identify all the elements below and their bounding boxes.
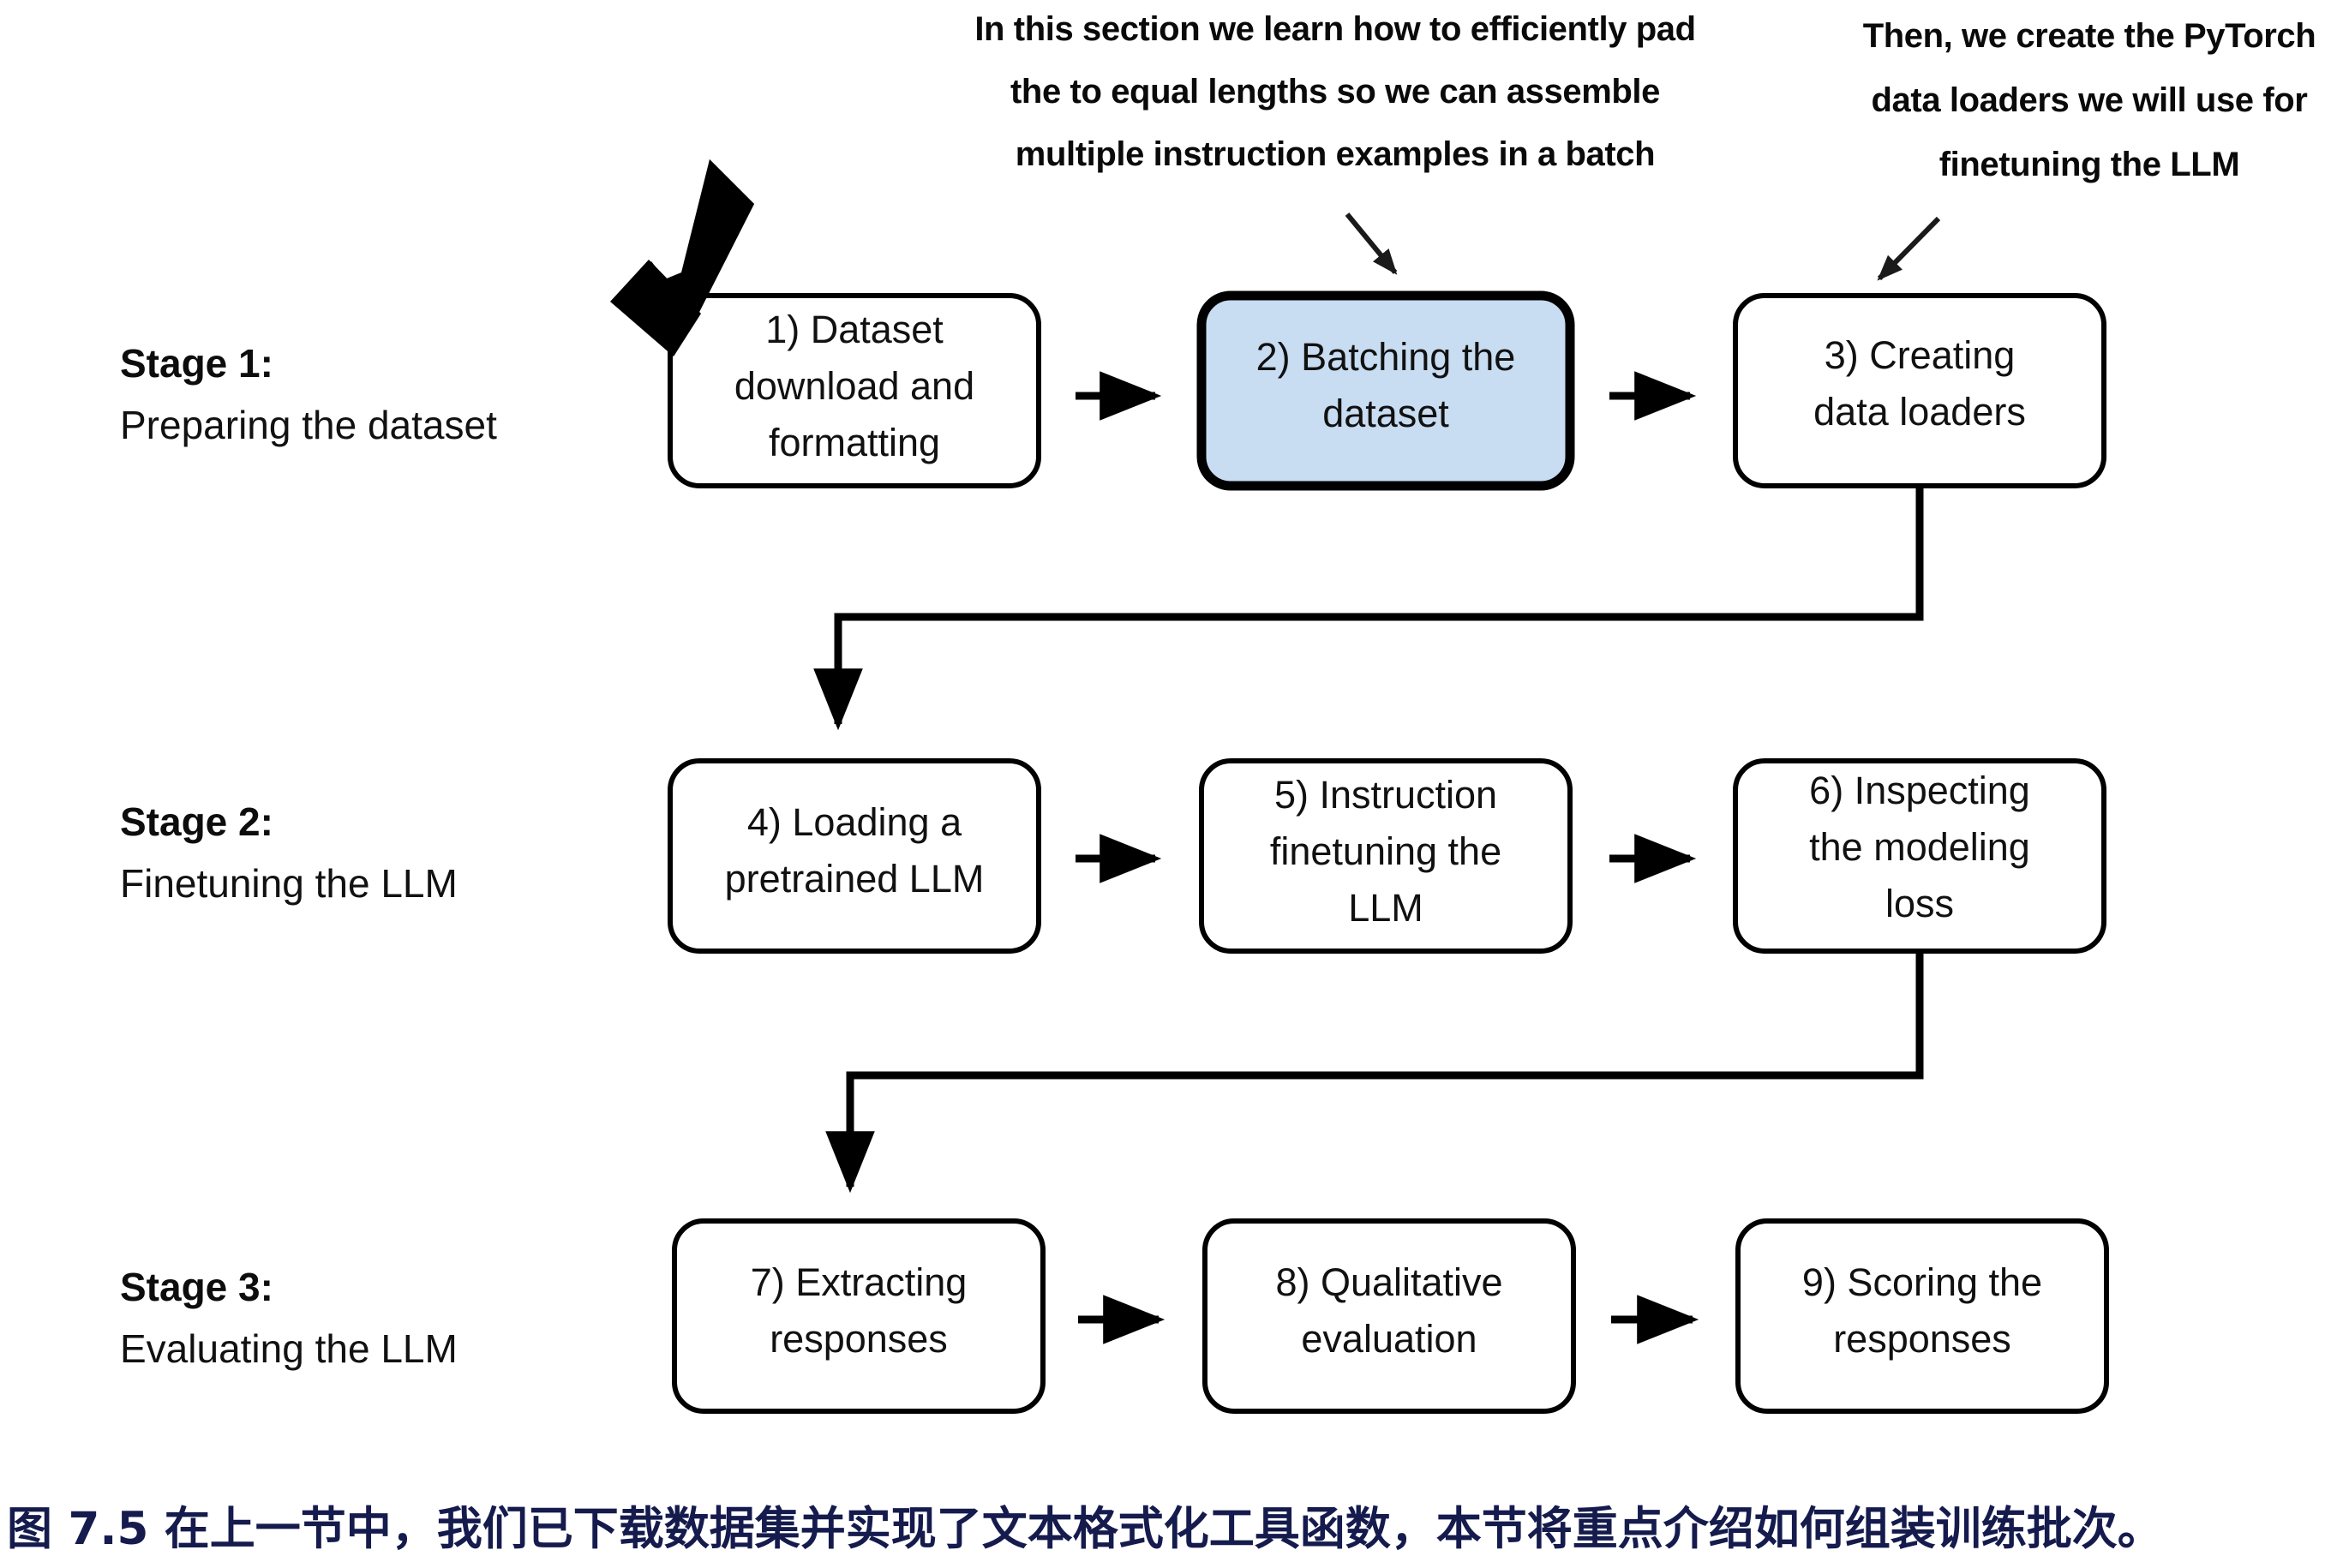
stage-3-subtitle: Evaluating the LLM (120, 1326, 458, 1371)
callout-batching-line-2: the to equal lengths so we can assemble (1010, 73, 1660, 111)
step-7-box[interactable]: 7) Extracting responses (674, 1221, 1043, 1411)
figure-root: In this section we learn how to efficien… (0, 0, 2343, 1568)
step-2-box[interactable]: 2) Batching the dataset (1201, 296, 1570, 486)
step-3-line-2: data loaders (1813, 390, 2026, 434)
callout-batching-arrow-icon (1347, 214, 1395, 272)
callout-batching: In this section we learn how to efficien… (974, 10, 1695, 272)
stage-1-title: Stage 1: (120, 341, 273, 386)
callout-dataloaders-line-1: Then, we create the PyTorch (1863, 17, 2316, 55)
stage-3-label: Stage 3: Evaluating the LLM (120, 1265, 458, 1371)
step-3-line-1: 3) Creating (1825, 333, 2016, 377)
step-6-box[interactable]: 6) Inspecting the modeling loss (1735, 761, 2104, 951)
stage-2-subtitle: Finetuning the LLM (120, 861, 458, 906)
stage-2-title: Stage 2: (120, 799, 273, 844)
step-9-line-1: 9) Scoring the (1802, 1260, 2042, 1304)
step-1-line-3: formatting (769, 421, 940, 464)
step-7-line-1: 7) Extracting (751, 1260, 968, 1304)
step-8-line-1: 8) Qualitative (1275, 1260, 1502, 1304)
step-4-box[interactable]: 4) Loading a pretrained LLM (670, 761, 1039, 951)
figure-caption: 图 7.5 在上一节中，我们已下载数据集并实现了文本格式化工具函数，本节将重点介… (7, 1503, 2163, 1555)
step-3-box[interactable]: 3) Creating data loaders (1735, 296, 2104, 486)
step-4-line-2: pretrained LLM (725, 857, 985, 901)
step-2-line-1: 2) Batching the (1256, 335, 1516, 379)
step-5-line-2: finetuning the (1270, 829, 1501, 873)
step-5-box[interactable]: 5) Instruction finetuning the LLM (1201, 761, 1570, 951)
stage-1-subtitle: Preparing the dataset (120, 403, 497, 447)
step-6-line-1: 6) Inspecting (1809, 769, 2030, 812)
step-1-box[interactable]: 1) Dataset download and formatting (670, 296, 1039, 486)
step-6-line-2: the modeling (1809, 825, 2030, 869)
step-7-line-2: responses (770, 1317, 948, 1361)
callout-batching-line-3: multiple instruction examples in a batch (1016, 135, 1655, 173)
stage-3-title: Stage 3: (120, 1265, 273, 1309)
step-9-box[interactable]: 9) Scoring the responses (1738, 1221, 2106, 1411)
step-9-line-2: responses (1833, 1317, 2011, 1361)
callout-dataloaders-arrow-icon (1879, 218, 1939, 278)
stage-1-label: Stage 1: Preparing the dataset (120, 341, 497, 447)
step-1-line-2: download and (734, 364, 974, 408)
step-5-line-3: LLM (1348, 886, 1423, 930)
step-5-line-1: 5) Instruction (1274, 773, 1497, 817)
step-1-line-1: 1) Dataset (765, 308, 944, 351)
callout-dataloaders: Then, we create the PyTorch data loaders… (1863, 17, 2316, 278)
step-8-line-2: evaluation (1301, 1317, 1477, 1361)
step-6-line-3: loss (1885, 882, 1954, 925)
step-4-line-1: 4) Loading a (747, 800, 962, 844)
callout-dataloaders-line-3: finetuning the LLM (1939, 146, 2240, 183)
flowchart-diagram: In this section we learn how to efficien… (0, 0, 2343, 1568)
stage-2-label: Stage 2: Finetuning the LLM (120, 799, 458, 906)
step-8-box[interactable]: 8) Qualitative evaluation (1205, 1221, 1573, 1411)
callout-dataloaders-line-2: data loaders we will use for (1872, 81, 2308, 119)
connector-stage1-to-stage2 (838, 488, 1920, 724)
connector-stage2-to-stage3 (850, 954, 1920, 1187)
callout-batching-line-1: In this section we learn how to efficien… (974, 10, 1695, 48)
step-2-line-2: dataset (1322, 392, 1449, 435)
